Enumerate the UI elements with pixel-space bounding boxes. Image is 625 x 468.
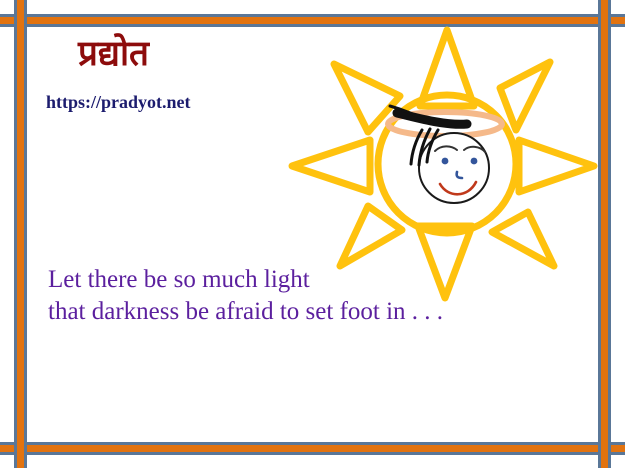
quote-text: Let there be so much light that darkness… — [48, 264, 443, 328]
face-circle — [419, 133, 489, 203]
eye-right-icon — [471, 158, 478, 165]
sun-ray-northeast-icon — [500, 62, 550, 130]
sun-ray-east-icon — [519, 140, 594, 192]
sun-ray-west-icon — [292, 140, 370, 192]
brand-url[interactable]: https://pradyot.net — [46, 92, 191, 113]
sun-ray-southwest-icon — [340, 206, 402, 266]
quote-line-1: Let there be so much light — [48, 264, 443, 296]
quote-line-2: that darkness be afraid to set foot in .… — [48, 296, 443, 328]
brand-title: प्रद्योत — [78, 36, 149, 71]
frame-band-left — [14, 0, 27, 468]
sun-ray-southeast-icon — [492, 212, 554, 266]
poster-canvas: प्रद्योत https://pradyot.net — [0, 0, 625, 468]
frame-band-bottom — [0, 442, 625, 455]
eye-left-icon — [442, 158, 449, 165]
